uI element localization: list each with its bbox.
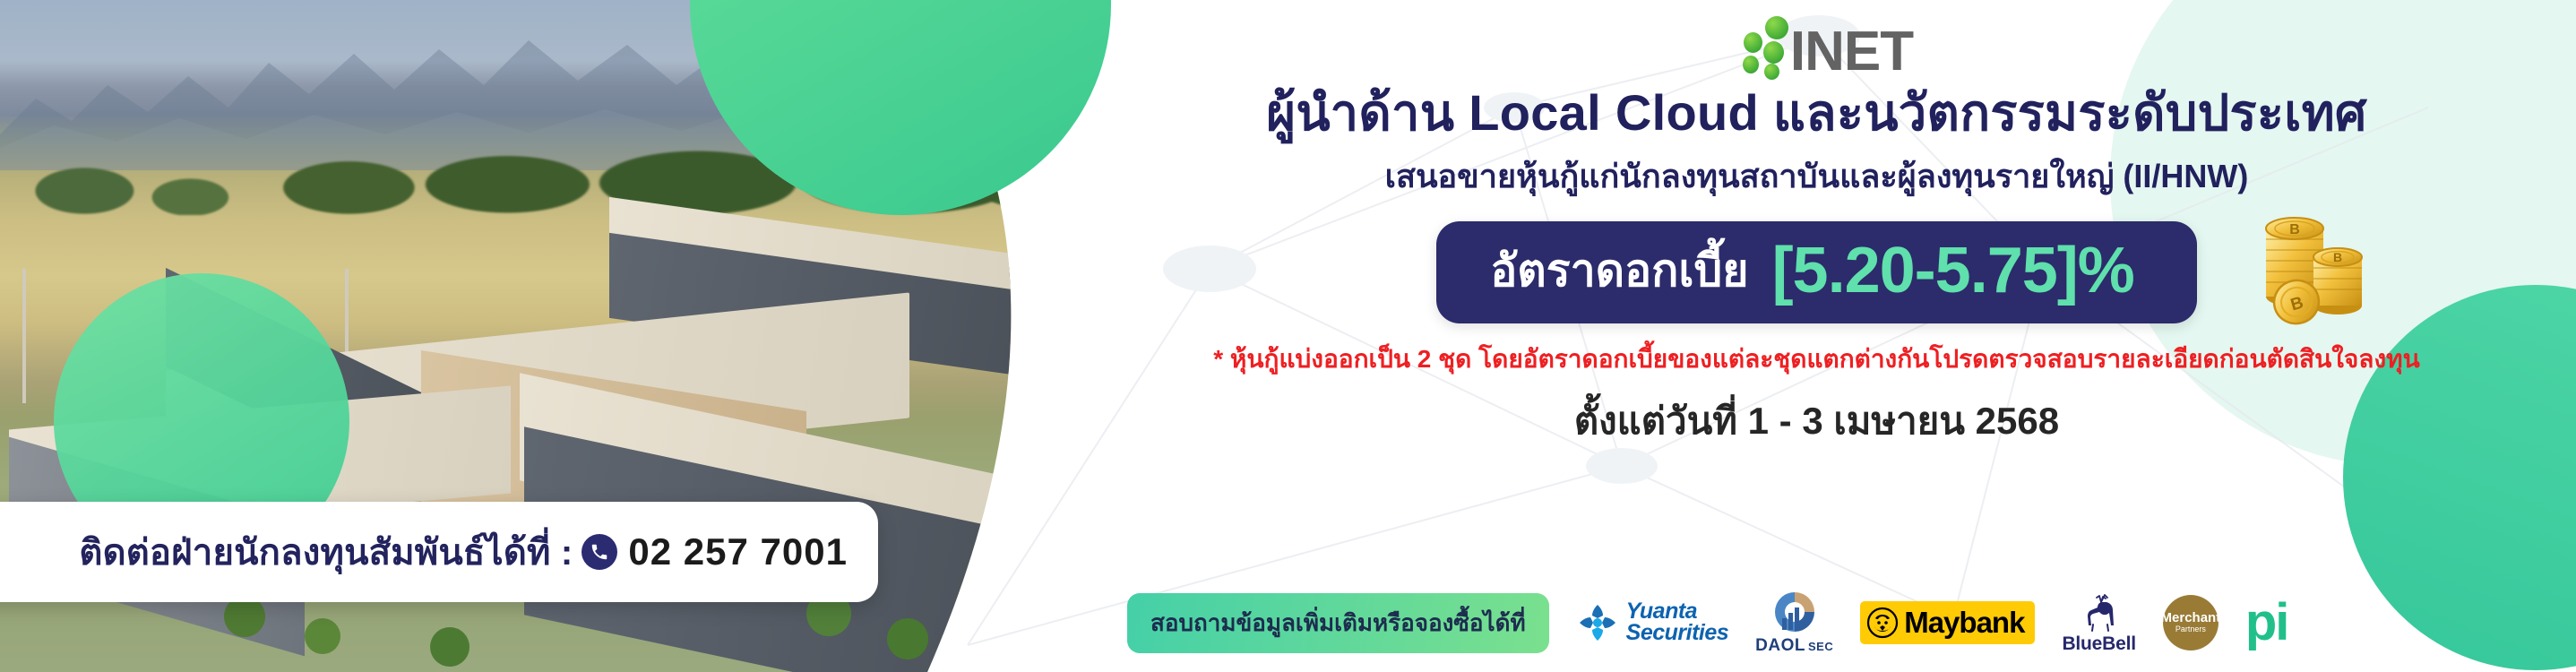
contact-phone-number[interactable]: 02 257 7001: [628, 530, 848, 573]
contact-label: ติดต่อฝ่ายนักลงทุนสัมพันธ์ได้ที่ :: [79, 523, 573, 581]
foreground-tree: [305, 618, 340, 654]
inet-dots-logo: [1738, 13, 1790, 79]
svg-text:B: B: [2289, 222, 2300, 237]
gold-bitcoin-coins-icon: B B: [2255, 191, 2372, 325]
yuanta-star-icon: [1576, 601, 1619, 644]
inet-bond-offering-banner: ติดต่อฝ่ายนักลงทุนสัมพันธ์ได้ที่ : 02 25…: [0, 0, 2576, 672]
offering-disclaimer-note: * หุ้นกู้แบ่งออกเป็น 2 ชุด โดยอัตราดอกเบ…: [1213, 340, 2420, 379]
partner-logo-maybank[interactable]: Maybank: [1860, 601, 2035, 644]
inet-logo-wordmark: INET: [1790, 26, 1913, 79]
partner-logo-pi[interactable]: pi: [2245, 605, 2288, 642]
foreground-tree: [430, 627, 470, 667]
daol-line1: DAOL: [1755, 636, 1805, 656]
subscription-period: ตั้งแต่วันที่ 1 - 3 เมษายน 2568: [1574, 392, 2059, 451]
page-subtitle: เสนอขายหุ้นกู้แก่นักลงทุนสถาบันและผู้ลงท…: [1385, 151, 2249, 202]
maybank-wordmark: Maybank: [1904, 606, 2024, 640]
daol-pie-icon: [1770, 590, 1820, 634]
inet-logo: INET: [1738, 13, 1913, 79]
yuanta-line2: Securities: [1626, 623, 1729, 644]
pi-wordmark: pi: [2245, 605, 2288, 642]
merchant-line1: Merchant: [2161, 611, 2221, 625]
interest-rate-box: อัตราดอกเบี้ย [5.20-5.75]%: [1436, 221, 2197, 323]
offer-content: INET ผู้นำด้าน Local Cloud และนวัตกรรมระ…: [1057, 0, 2576, 672]
page-title: ผู้นำด้าน Local Cloud และนวัตกรรมระดับปร…: [1266, 84, 2367, 142]
partner-logo-bluebell[interactable]: BlueBell: [2062, 591, 2135, 655]
inquiry-cta-button[interactable]: สอบถามข้อมูลเพิ่มเติมหรือจองซื้อได้ที่: [1127, 593, 1549, 653]
utility-pole: [22, 269, 26, 403]
interest-rate-value: [5.20-5.75]%: [1772, 234, 2134, 307]
daol-line2: SEC: [1808, 640, 1833, 653]
phone-icon: [582, 534, 617, 570]
investor-relations-contact-pill[interactable]: ติดต่อฝ่ายนักลงทุนสัมพันธ์ได้ที่ : 02 25…: [0, 502, 878, 602]
interest-rate-row: อัตราดอกเบี้ย [5.20-5.75]%: [1057, 221, 2576, 323]
partners-strip: สอบถามข้อมูลเพิ่มเติมหรือจองซื้อได้ที่ Y…: [1057, 590, 2576, 656]
bluebell-wordmark: BlueBell: [2062, 633, 2135, 655]
bluebell-deer-icon: [2080, 591, 2119, 633]
partner-logo-merchant[interactable]: Merchant Partners: [2163, 595, 2218, 650]
merchant-line2: Partners: [2175, 625, 2206, 633]
svg-text:B: B: [2333, 250, 2342, 264]
partner-logo-daol[interactable]: DAOL SEC: [1755, 590, 1833, 656]
partner-logo-yuanta[interactable]: Yuanta Securities: [1576, 601, 1729, 644]
foreground-tree: [887, 618, 928, 659]
interest-rate-label: อัตราดอกเบี้ย: [1490, 236, 1748, 306]
maybank-tiger-icon: [1866, 607, 1899, 639]
